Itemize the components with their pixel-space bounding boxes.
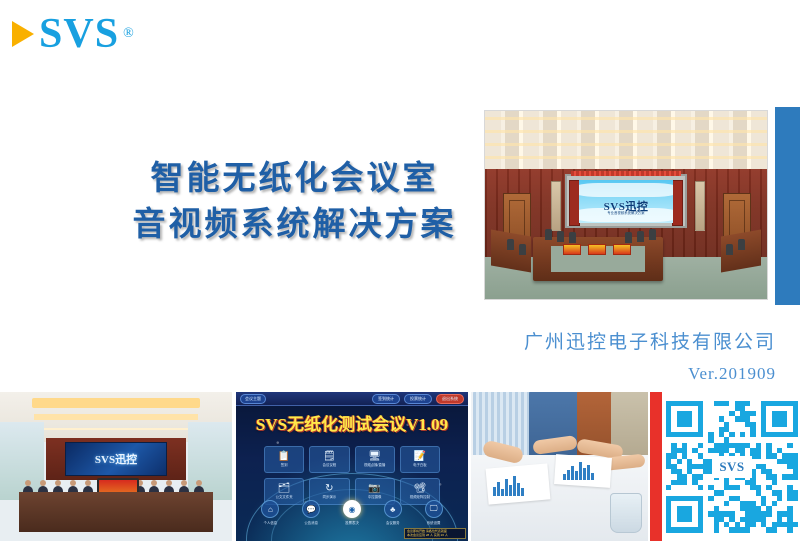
led-wall-screen: SVS迅控 专业音视频系统解决方案 (565, 174, 687, 228)
room-screen: SVS迅控 (65, 442, 167, 476)
screen-sub-text: 专业音视频系统解决方案 (579, 210, 673, 215)
version-label: Ver.201909 (524, 364, 776, 384)
dock-item-profile[interactable]: ⌂ 个人信息 (261, 500, 279, 525)
bar-chart-graphic (493, 476, 524, 496)
vote-icon: ◉ (343, 500, 361, 518)
hero-conference-room-image: SVS迅控 专业音视频系统解决方案 (484, 110, 768, 300)
app-topic-tag: 会议主题 (240, 394, 266, 404)
chair (545, 229, 552, 240)
qr-center-label: SVS (712, 456, 752, 478)
app-heading: SVS无纸化测试会议V1.09 (236, 410, 468, 435)
chair (519, 244, 526, 255)
chair (507, 239, 514, 250)
chair (726, 244, 733, 255)
chair (649, 229, 656, 240)
edit-doc-icon: 📝 (414, 452, 426, 462)
app-tile-label: 会议议程 (323, 464, 337, 467)
monitor-icon: 🖵 (425, 500, 443, 518)
blue-accent-bar (775, 107, 800, 305)
app-tile-label: 签到 (281, 464, 288, 467)
app-tile-agenda[interactable]: 🗒 会议议程 (309, 446, 349, 473)
app-tile-whiteboard[interactable]: 📝 电子白板 (400, 446, 440, 473)
chair (738, 239, 745, 250)
page-title: 智能无纸化会议室 音视频系统解决方案 (112, 155, 477, 246)
company-block: 广州迅控电子科技有限公司 Ver.201909 (524, 328, 776, 384)
registered-trademark-icon: ® (123, 26, 134, 42)
app-tile-label: 视频矩阵控制 (410, 496, 430, 499)
service-icon: ♣ (384, 500, 402, 518)
desk-flag-3 (613, 244, 631, 255)
desk-flag-1 (563, 244, 581, 255)
clipboard-icon: 📋 (278, 452, 290, 462)
water-glass (610, 493, 642, 533)
app-tile-signin[interactable]: 📋 签到 (264, 446, 304, 473)
chair (625, 232, 632, 243)
desk-flag-2 (588, 244, 606, 255)
logo-wordmark: SVS (39, 13, 119, 55)
strip-panel-meeting-room: SVS迅控 (0, 392, 232, 541)
app-scrolling-ticker: 会议即将开始 请各位代表就座 本次会议应到 28 人 实到 26 人 (404, 528, 466, 539)
app-dock: ⌂ 个人信息 💬 公告消息 ◉ 投票表决 ♣ 会议服务 🖵 系统设置 (250, 500, 454, 525)
dock-item-settings[interactable]: 🖵 系统设置 (425, 500, 443, 525)
dock-label: 公告消息 (304, 520, 318, 525)
strip-panel-software-ui: 会议主题 签到统计 投票统计 退出系统 SVS无纸化测试会议V1.09 📋 签到… (236, 392, 468, 541)
dock-label: 投票表决 (345, 520, 359, 525)
dock-item-notice[interactable]: 💬 公告消息 (302, 500, 320, 525)
dock-item-service[interactable]: ♣ 会议服务 (384, 500, 402, 525)
chat-icon: 💬 (302, 500, 320, 518)
svs-logo: SVS ® (12, 12, 134, 56)
company-name: 广州迅控电子科技有限公司 (524, 328, 776, 357)
screen-content: SVS迅控 专业音视频系统解决方案 (579, 180, 673, 223)
screen-banner (571, 171, 681, 176)
app-tile-label: 视频点播/直播 (364, 464, 385, 467)
app-tile-label: 电子白板 (413, 464, 427, 467)
bar-chart-graphic (563, 462, 594, 480)
dock-label: 个人信息 (264, 520, 278, 525)
screen-side-right (672, 180, 683, 226)
wall-panel-right (695, 181, 705, 231)
screen-share-icon: 🖥 (368, 452, 381, 462)
play-triangle-icon (12, 21, 34, 47)
vote-stats-button[interactable]: 投票统计 (404, 394, 432, 404)
exit-system-button[interactable]: 退出系统 (436, 394, 464, 404)
chair (637, 231, 644, 242)
dock-label: 会议服务 (386, 520, 400, 525)
title-line-2: 音视频系统解决方案 (112, 201, 477, 247)
app-button-group: 签到统计 投票统计 退出系统 (372, 394, 464, 404)
signin-stats-button[interactable]: 签到统计 (372, 394, 400, 404)
camera-icon: 📷 (368, 484, 380, 494)
qr-code-block: SVS (664, 394, 800, 539)
home-icon: ⌂ (261, 500, 279, 518)
title-line-1: 智能无纸化会议室 (112, 155, 477, 201)
chair (569, 232, 576, 243)
dock-item-vote[interactable]: ◉ 投票表决 (343, 500, 361, 525)
qr-code[interactable]: SVS (666, 401, 798, 533)
strip-panel-discussion-photo (471, 392, 648, 541)
app-tile-video[interactable]: 🖥 视频点播/直播 (355, 446, 395, 473)
app-tile-label: 中控摄像 (368, 496, 382, 499)
app-function-grid: 📋 签到 🗒 会议议程 🖥 视频点播/直播 📝 电子白板 🗂 公文 (264, 446, 440, 505)
red-accent-bar (650, 392, 662, 541)
refresh-icon: ↻ (325, 484, 333, 494)
chair (557, 231, 564, 242)
bottom-image-strip: SVS迅控 会议主题 (0, 392, 800, 541)
projector-icon: 📽 (414, 484, 427, 494)
slide-root: SVS ® 智能无纸化会议室 音视频系统解决方案 SVS迅控 专业音视频系统解决… (0, 0, 800, 541)
document-icon: 🗒 (323, 452, 336, 462)
ceiling (485, 111, 767, 169)
app-tile-label: 公文文件夹 (276, 496, 293, 499)
folder-icon: 🗂 (278, 484, 291, 494)
wall-panel-left (551, 181, 561, 231)
room-screen-brand: SVS迅控 (66, 451, 166, 467)
ticker-line-2: 本次会议应到 28 人 实到 26 人 (407, 534, 463, 538)
app-tile-label: 同步演示 (323, 496, 337, 499)
dock-label: 系统设置 (427, 520, 441, 525)
